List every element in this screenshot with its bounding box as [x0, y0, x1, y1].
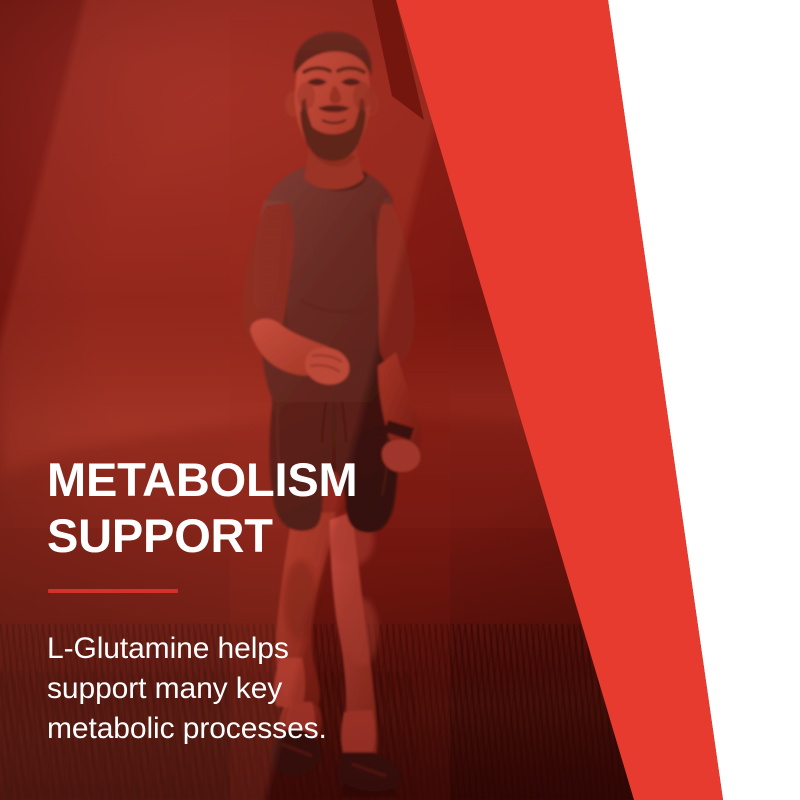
- body-text: L-Glutamine helps support many key metab…: [47, 629, 347, 749]
- page-title: METABOLISM SUPPORT: [47, 452, 477, 564]
- promo-banner: METABOLISM SUPPORT L-Glutamine helps sup…: [0, 0, 800, 800]
- headline-line-2: SUPPORT: [47, 508, 477, 564]
- divider-icon: [48, 589, 178, 593]
- headline-line-1: METABOLISM: [47, 453, 357, 506]
- copy-block: METABOLISM SUPPORT L-Glutamine helps sup…: [47, 452, 477, 749]
